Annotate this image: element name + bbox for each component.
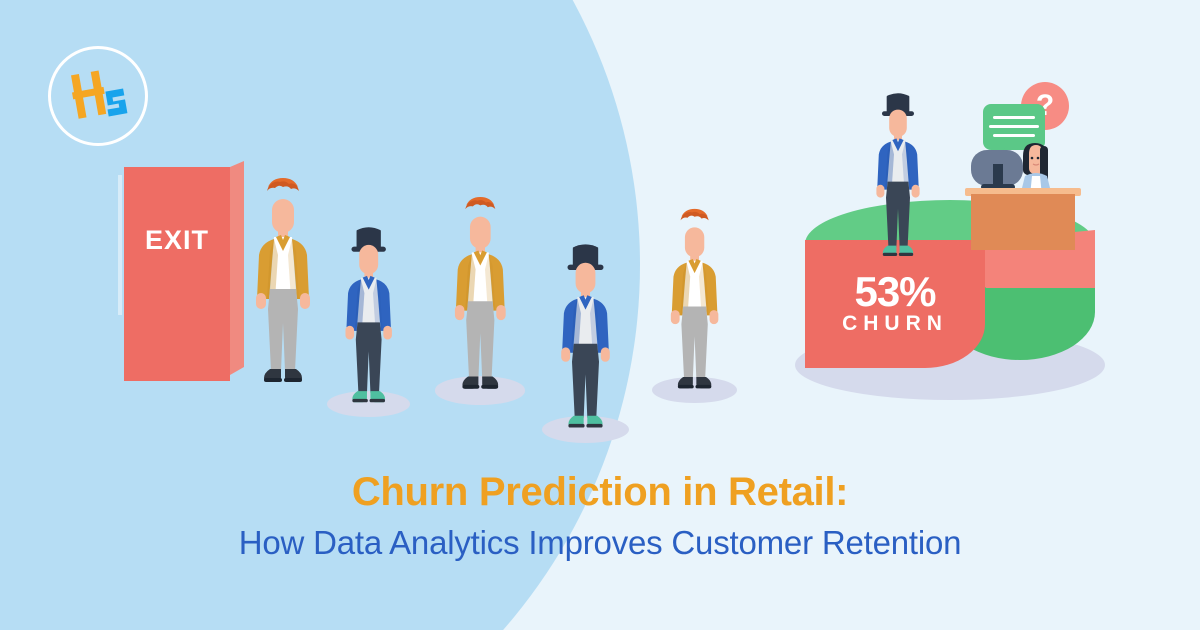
person-figure-icon	[330, 226, 407, 424]
person-figure-icon	[238, 177, 328, 407]
support-agent: ?	[965, 72, 1095, 242]
logo-letters-icon	[48, 46, 148, 146]
banner-canvas: EXIT 53% CHURN ?	[0, 0, 1200, 630]
desk-body	[971, 194, 1075, 250]
person-figure-icon	[545, 243, 626, 450]
person-figure-icon	[438, 196, 523, 412]
person-at-exit	[238, 177, 328, 412]
person-2	[330, 226, 407, 429]
pie-percent-label: CHURN	[805, 312, 985, 336]
hs-monogram-logo[interactable]	[48, 46, 148, 146]
person-3	[438, 196, 523, 417]
door-highlight	[118, 175, 122, 315]
page-subtitle: How Data Analytics Improves Customer Ret…	[0, 524, 1200, 562]
person-5	[655, 208, 734, 415]
person-on-chart	[862, 92, 934, 281]
bubble-line	[993, 116, 1035, 119]
bubble-line	[989, 125, 1039, 128]
page-title: Churn Prediction in Retail:	[0, 470, 1200, 515]
person-figure-icon	[862, 92, 934, 276]
exit-door: EXIT	[124, 161, 244, 381]
person-4	[545, 243, 626, 455]
bubble-line	[993, 134, 1035, 137]
person-figure-icon	[655, 208, 734, 410]
exit-label: EXIT	[124, 225, 230, 256]
door-face	[124, 167, 230, 381]
